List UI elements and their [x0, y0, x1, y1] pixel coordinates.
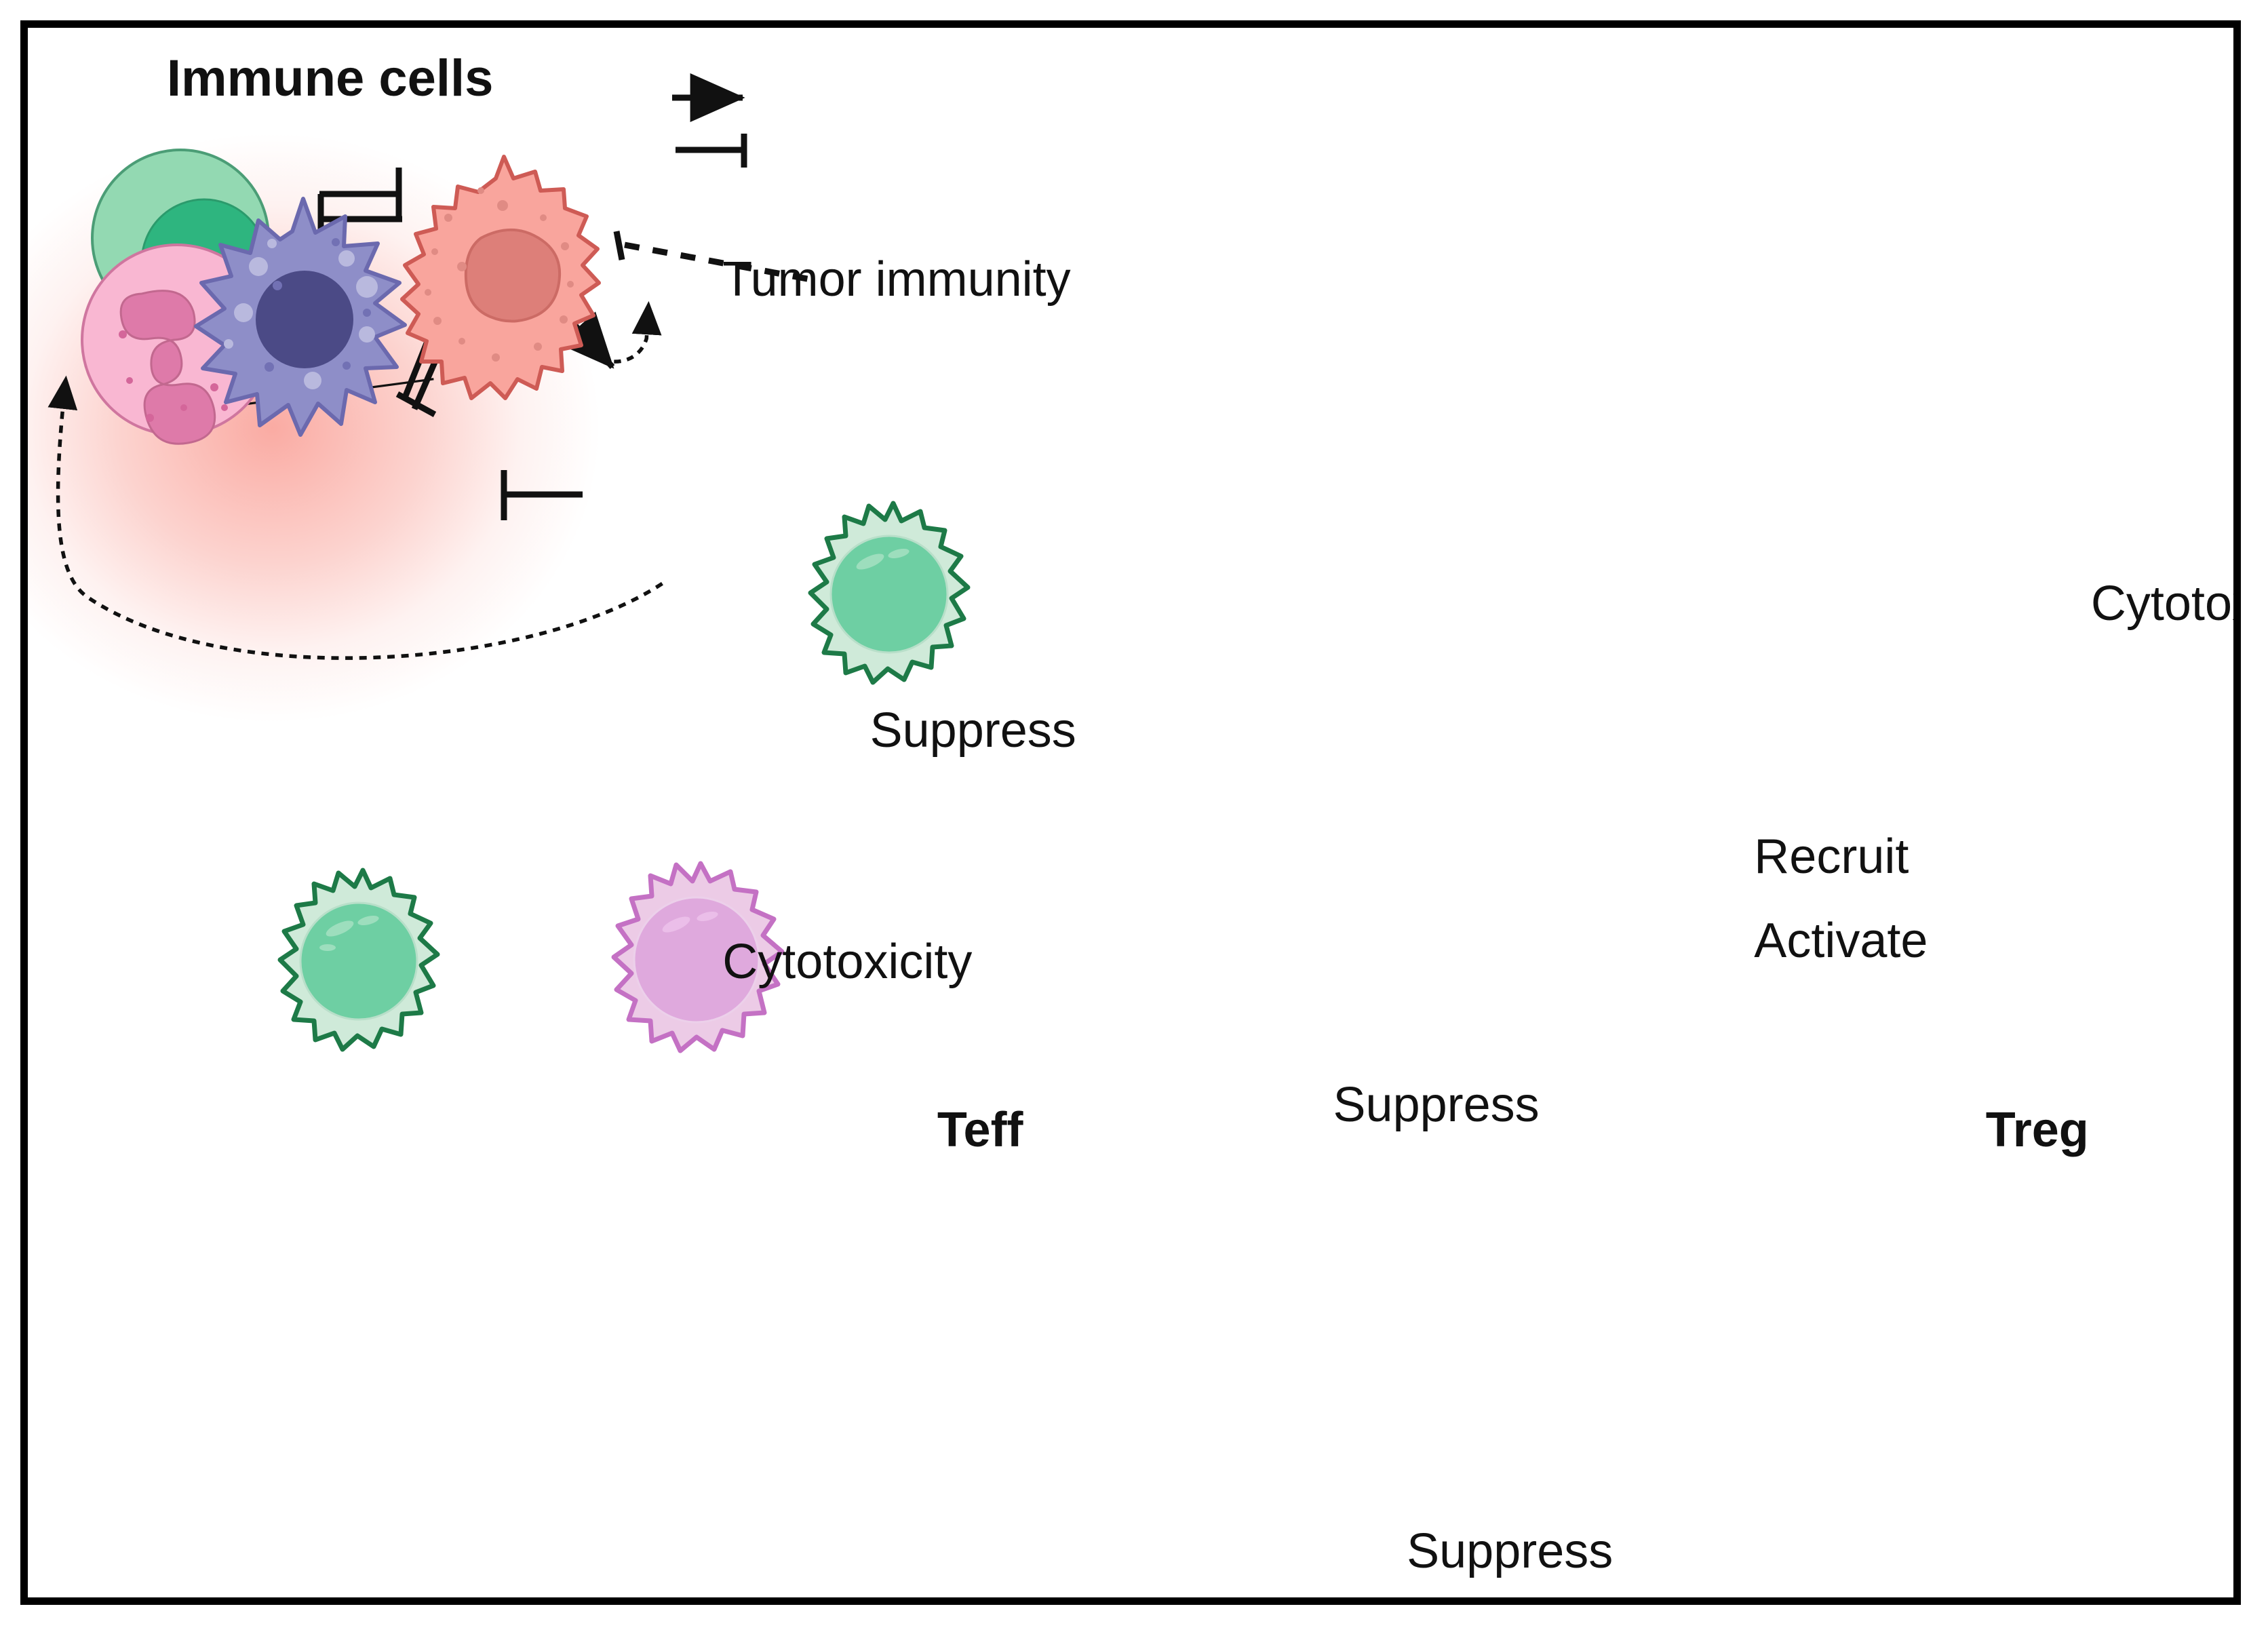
tbar-icon: [676, 134, 745, 168]
figure-frame: Immune cells Cancer Activate/ Eliminate …: [20, 20, 2241, 1605]
label-activate: Activate: [1754, 916, 1928, 965]
label-treg: Treg: [1986, 1106, 2089, 1154]
label-cytotoxicity-dashed: Cytotoxicity: [2091, 579, 2241, 628]
label-cytotoxicity-teff: Cytotoxicity: [722, 937, 972, 986]
title-immune-cells: Immune cells: [167, 53, 494, 104]
label-recruit: Recruit: [1754, 832, 1909, 881]
label-tumor-immunity: Tumor immunity: [722, 255, 1070, 304]
legend-graphics: [28, 28, 2233, 1597]
figure-root: Immune cells Cancer Activate/ Eliminate …: [0, 0, 2268, 1632]
label-suppress-immune: Suppress: [870, 706, 1076, 755]
label-suppress-teff: Suppress: [1333, 1081, 1540, 1129]
label-teff-left: Teff: [937, 1106, 1023, 1154]
label-suppress-treg-teff: Suppress: [1407, 1527, 1613, 1576]
